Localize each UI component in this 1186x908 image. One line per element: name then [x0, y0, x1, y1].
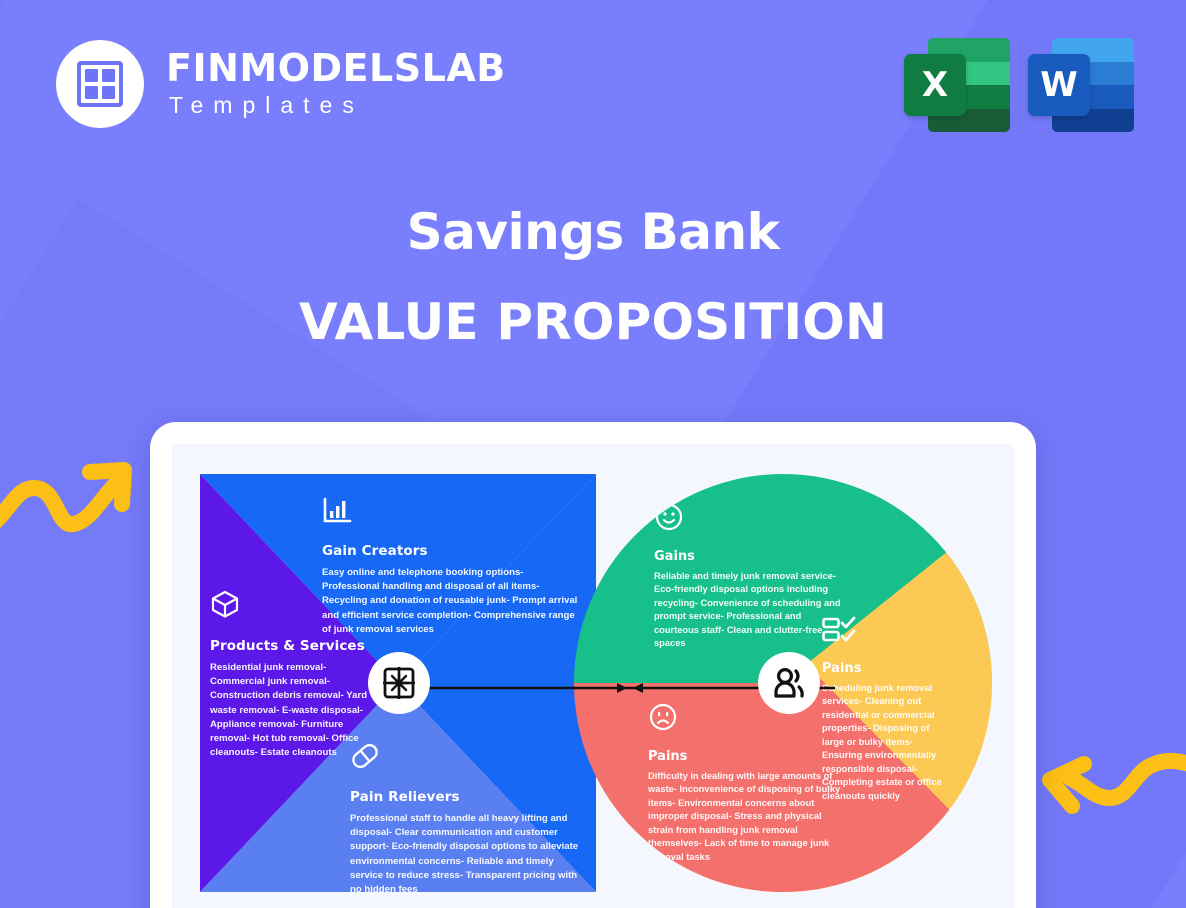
cell-gains: Gains Reliable and timely junk removal s…	[654, 502, 844, 651]
gift-burst-badge[interactable]	[368, 652, 430, 714]
cell-body: Residential junk removal- Commercial jun…	[210, 661, 370, 760]
brand-name: FINMODELSLAB	[166, 49, 506, 87]
cell-title: Gain Creators	[322, 543, 580, 559]
excel-badge: X	[904, 30, 1010, 132]
page-title: Savings Bank	[0, 203, 1186, 261]
word-badge: W	[1028, 30, 1134, 132]
cell-pain-relievers: Pain Relievers Professional staff to han…	[350, 742, 580, 892]
cell-title: Products & Services	[210, 638, 370, 654]
box-package-icon	[210, 589, 370, 624]
cell-body: Reliable and timely junk removal service…	[654, 570, 844, 651]
cell-products-services: Products & Services Residential junk rem…	[210, 589, 370, 760]
page-subtitle: VALUE PROPOSITION	[0, 293, 1186, 351]
logo-mark	[56, 40, 144, 128]
word-letter: W	[1028, 54, 1090, 116]
checklist-icon	[822, 616, 952, 649]
cell-title: Pains	[822, 661, 952, 676]
poster-canvas: FINMODELSLAB Templates X W Savings Bank …	[0, 0, 1186, 908]
gift-burst-icon	[379, 663, 419, 703]
curvy-arrow-down-left-icon	[1032, 750, 1186, 860]
customer-people-badge[interactable]	[758, 652, 820, 714]
tablet-screen: Gain Creators Easy online and telephone …	[172, 444, 1014, 908]
smiley-face-icon	[654, 502, 844, 537]
excel-letter: X	[904, 54, 966, 116]
grid-squares-icon	[77, 61, 123, 107]
value-proposition-canvas: Gain Creators Easy online and telephone …	[200, 474, 986, 908]
sad-face-icon	[648, 702, 844, 737]
cell-body: Professional staff to handle all heavy l…	[350, 812, 580, 892]
logo-text: FINMODELSLAB Templates	[166, 49, 506, 119]
cell-title: Gains	[654, 549, 844, 564]
pill-capsule-icon	[350, 742, 580, 775]
office-format-badges: X W	[904, 30, 1134, 132]
cell-pains: Pains Difficulty in dealing with large a…	[648, 702, 844, 864]
title-block: Savings Bank VALUE PROPOSITION	[0, 203, 1186, 351]
cell-title: Pains	[648, 749, 844, 764]
cell-title: Pain Relievers	[350, 789, 580, 805]
bar-chart-icon	[322, 496, 580, 529]
curvy-arrow-up-right-icon	[0, 436, 142, 546]
tablet-frame: Gain Creators Easy online and telephone …	[150, 422, 1036, 908]
cell-body: Difficulty in dealing with large amounts…	[648, 770, 844, 864]
customer-people-icon	[769, 663, 809, 703]
brand-logo[interactable]: FINMODELSLAB Templates	[56, 40, 506, 128]
brand-subtitle: Templates	[166, 92, 506, 119]
